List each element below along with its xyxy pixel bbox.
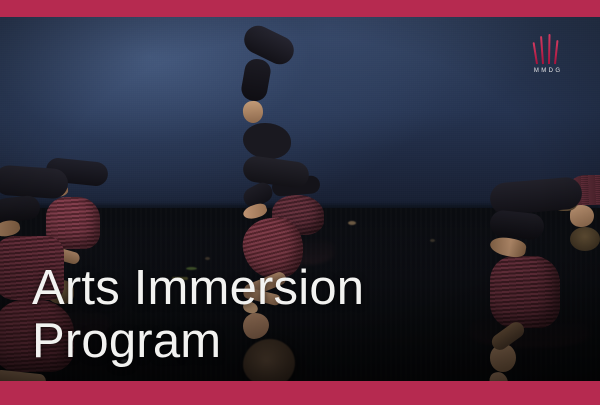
dancer-torso [490,256,560,328]
dancer-leg [242,155,311,190]
page-title-line-1: Arts Immersion [32,262,364,315]
dancer-hip [243,123,291,159]
dancer-shin [240,57,273,103]
logo-wordmark: MMDG [524,67,570,75]
logo-mark-icon [524,32,570,64]
center-leaping-dancer [243,31,373,211]
page-title: Arts Immersion Program [32,262,364,368]
logo-stroke-1 [533,42,538,64]
dancer-shin [0,195,41,224]
bottom-accent-bar [0,381,600,405]
dancer-foot [242,100,263,123]
logo-stroke-4 [554,40,558,64]
top-accent-bar [0,0,600,17]
poster-canvas: Arts Immersion Program MMDG [0,0,600,405]
logo-stroke-2 [540,36,544,64]
right-foreground-dancer [490,180,600,340]
logo-stroke-3 [548,34,551,64]
page-title-line-2: Program [32,315,364,368]
brand-logo[interactable]: MMDG [524,32,570,75]
dancer-leg [0,164,69,199]
dancer-shin [489,209,545,241]
